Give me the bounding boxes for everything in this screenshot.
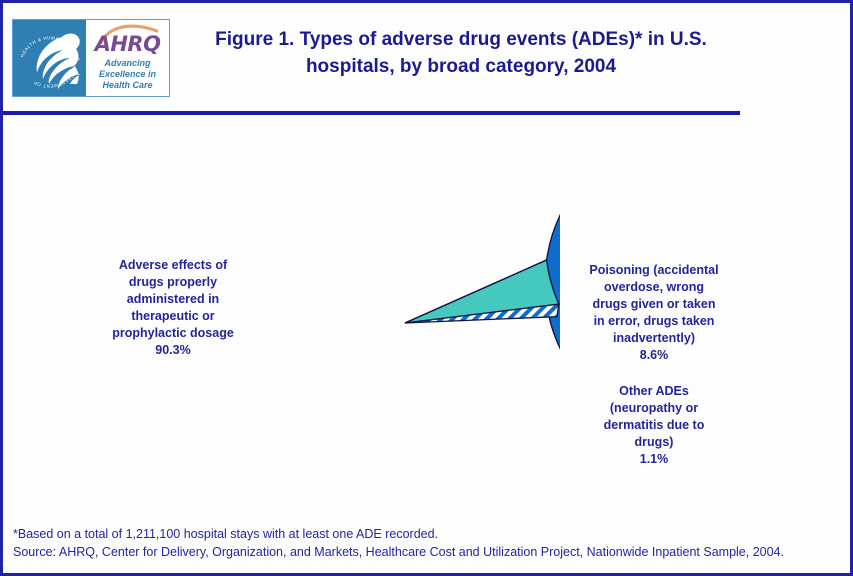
footnote-source: Source: AHRQ, Center for Delivery, Organ… [13,543,848,561]
hhs-seal-icon: HEALTH & HUMAN SERVICES · USA DEPARTMENT… [13,20,86,96]
pie-label-poisoning: Poisoning (accidental overdose, wrong dr… [561,262,747,364]
pie-chart [250,168,560,478]
figure-header: HEALTH & HUMAN SERVICES · USA DEPARTMENT… [3,3,850,108]
chart-area: Adverse effects of drugs properly admini… [3,115,850,520]
pie-label-other-ades: Other ADEs (neuropathy or dermatitis due… [561,383,747,468]
figure-title: Figure 1. Types of adverse drug events (… [181,26,741,80]
figure-footnotes: *Based on a total of 1,211,100 hospital … [13,525,848,561]
pie-label-adverse-effects: Adverse effects of drugs properly admini… [83,257,263,359]
ahrq-wordmark: AHRQ Advancing Excellence in Health Care [86,20,169,96]
figure-container: HEALTH & HUMAN SERVICES · USA DEPARTMENT… [0,0,853,576]
ahrq-logo: HEALTH & HUMAN SERVICES · USA DEPARTMENT… [12,19,170,97]
ahrq-tagline: Advancing Excellence in Health Care [86,58,169,91]
ahrq-acronym: AHRQ [95,34,161,55]
footnote-basis: *Based on a total of 1,211,100 hospital … [13,525,848,543]
